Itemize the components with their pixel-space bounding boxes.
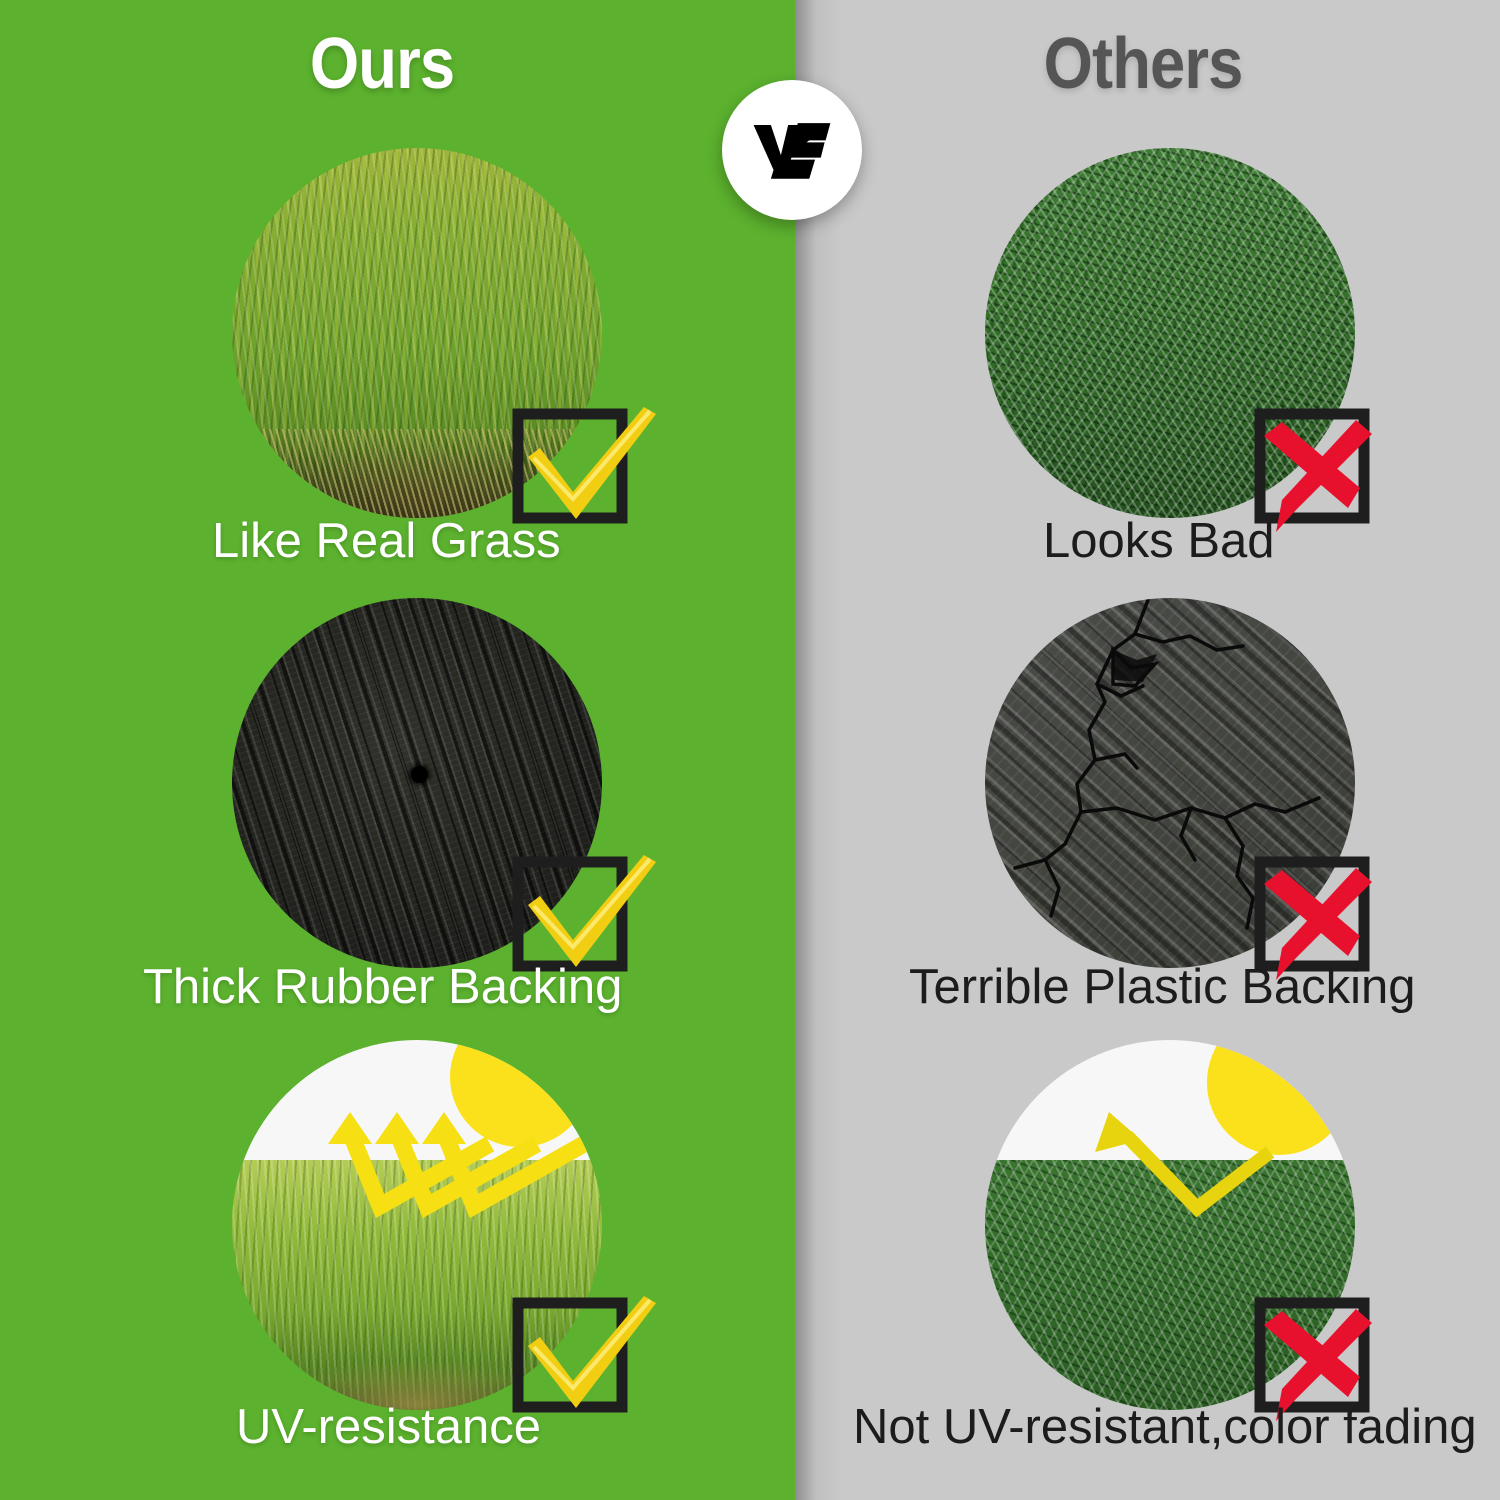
row-1-ours-caption: Thick Rubber Backing (143, 962, 622, 1013)
row-1-others-caption: Terrible Plastic Backing (909, 962, 1416, 1013)
row-2-ours-caption: UV-resistance (236, 1402, 541, 1453)
backing-drain-hole (411, 766, 428, 783)
vs-badge (722, 80, 862, 220)
row-0-ours-caption: Like Real Grass (212, 516, 561, 567)
vs-icon (744, 102, 840, 198)
comparison-infographic: Ours Others Like Real Grass (0, 0, 1500, 1500)
others-column-title: Others (1044, 28, 1243, 100)
row-2-others-caption: Not UV-resistant,color fading (853, 1402, 1477, 1453)
ours-column-title: Ours (310, 28, 454, 100)
row-0-others-caption: Looks Bad (1043, 516, 1275, 567)
